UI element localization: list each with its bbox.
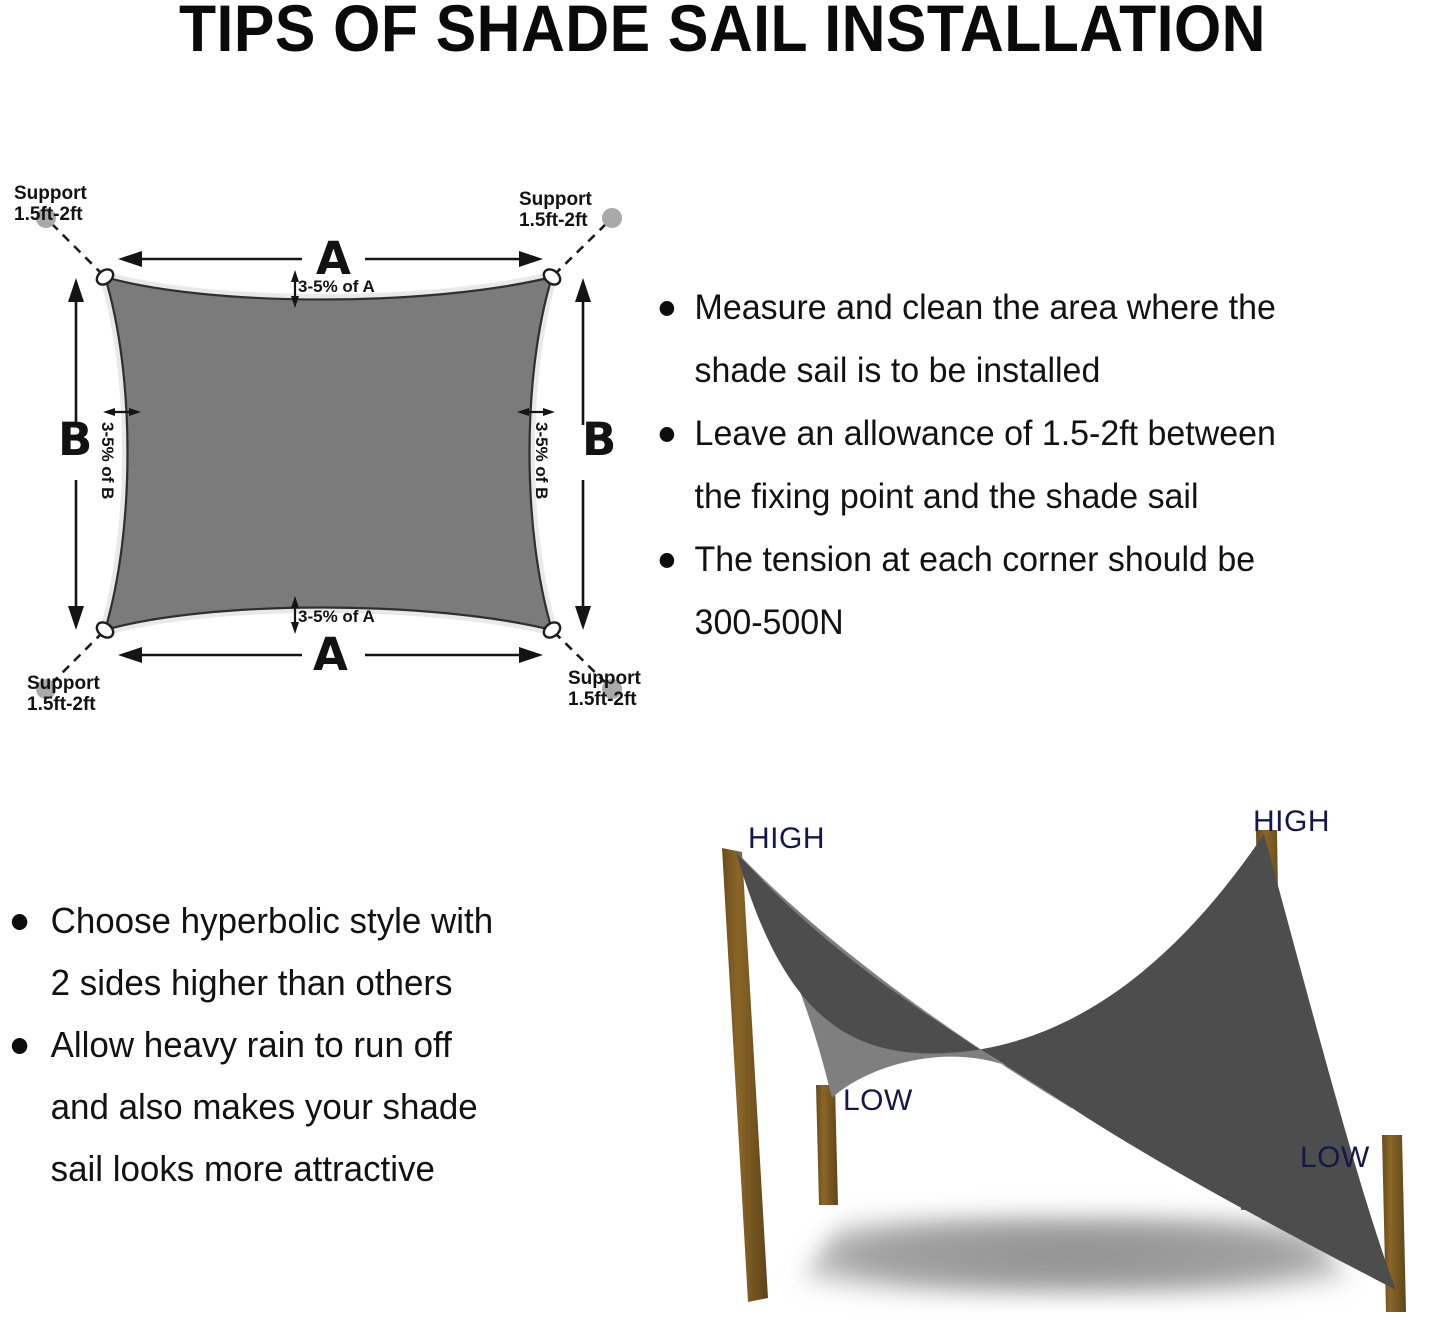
poster-canvas: TIPS OF SHADE SAIL INSTALLATION: [0, 0, 1445, 1319]
support-top-left-label: Support 1.5ft-2ft: [14, 183, 87, 226]
bullet-dot-icon: [660, 427, 675, 442]
slack-arrow-b-right-out: [543, 408, 555, 416]
tips-list-left: Choose hyperbolic style with 2 sides hig…: [6, 890, 626, 1200]
list-item: Leave an allowance of 1.5-2ft between th…: [648, 402, 1424, 528]
arrowhead-b-right-bottom: [575, 606, 591, 630]
bullet-dot-icon: [12, 914, 28, 930]
list-item: The tension at each corner should be 300…: [648, 528, 1424, 654]
label-high-left: HIGH: [748, 822, 825, 856]
arrowhead-a-bottom-left: [118, 647, 142, 663]
bullet-dot-icon: [12, 1038, 28, 1054]
arrowhead-b-left-top: [68, 278, 84, 302]
page-title: TIPS OF SHADE SAIL INSTALLATION: [58, 0, 1387, 63]
label-high-right: HIGH: [1253, 805, 1330, 839]
arrowhead-a-top-right: [519, 251, 543, 267]
post-low-left: [816, 1085, 838, 1205]
support-top-right-label: Support 1.5ft-2ft: [519, 189, 592, 232]
hyperbolic-sail-illustration: [660, 790, 1445, 1320]
list-item: Choose hyperbolic style with 2 sides hig…: [6, 890, 607, 1014]
dimension-label-b-right: B: [582, 415, 616, 465]
arrowhead-a-bottom-right: [519, 647, 543, 663]
slack-label-b-right: 3-5% of B: [532, 422, 551, 499]
arrowhead-b-right-top: [575, 278, 591, 302]
slack-label-b-left: 3-5% of B: [98, 422, 117, 499]
dimension-label-b-left: B: [58, 415, 92, 465]
slack-label-a-bottom: 3-5% of A: [298, 607, 375, 626]
slack-label-a-top: 3-5% of A: [298, 277, 375, 296]
support-bottom-right-label: Support 1.5ft-2ft: [568, 668, 641, 711]
arrowhead-b-left-bottom: [68, 606, 84, 630]
label-low-left: LOW: [843, 1084, 913, 1118]
bullet-dot-icon: [660, 553, 675, 568]
label-low-right: LOW: [1300, 1141, 1370, 1175]
slack-arrow-b-left-out: [103, 408, 115, 416]
list-item: Measure and clean the area where the sha…: [648, 276, 1424, 402]
list-item: Allow heavy rain to run off and also mak…: [6, 1014, 607, 1200]
ground-shadow: [790, 1215, 1360, 1295]
tips-list-right: Measure and clean the area where the sha…: [648, 276, 1445, 654]
dimension-label-a-bottom: A: [313, 630, 348, 680]
sail-fabric: [105, 277, 552, 630]
support-bottom-left-label: Support 1.5ft-2ft: [27, 673, 100, 716]
bullet-dot-icon: [660, 301, 675, 316]
arrowhead-a-top-left: [118, 251, 142, 267]
